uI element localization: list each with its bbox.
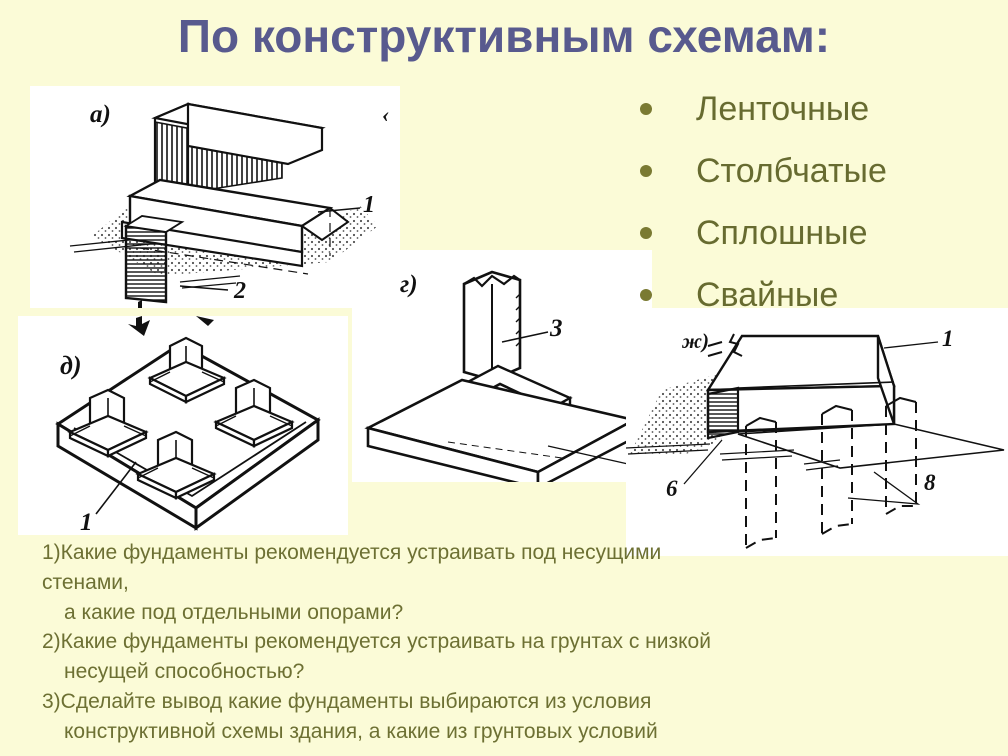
question-line: конструктивной схемы здания, а какие из …	[42, 717, 992, 747]
callout-1: 1	[80, 509, 93, 535]
edge-mark: ‹	[382, 102, 389, 127]
bullet-label: Сплошные	[696, 214, 868, 253]
question-line: 1)Какие фундаменты рекомендуется устраив…	[42, 538, 992, 568]
question-line: несущей способностью?	[42, 657, 992, 687]
top-arrows	[128, 316, 214, 336]
bullet-dot-icon	[640, 227, 652, 239]
questions-block: 1)Какие фундаменты рекомендуется устраив…	[42, 538, 992, 747]
figure-pile-foundation: ж) 1 6 8	[626, 308, 1008, 556]
slide-canvas: По конструктивным схемам:	[0, 0, 1008, 756]
callout-8: 8	[924, 470, 936, 495]
bullet-label: Свайные	[696, 276, 838, 315]
callout-6: 6	[666, 476, 678, 501]
bullet-dot-icon	[640, 165, 652, 177]
page-title: По конструктивным схемам:	[0, 12, 1008, 60]
list-item: Сплошные	[630, 202, 1008, 264]
figure-strip-foundation: а) 1 2 ‹	[30, 86, 400, 308]
list-item: Столбчатые	[630, 140, 1008, 202]
figure-label-d: д)	[60, 351, 82, 380]
callout-1: 1	[363, 192, 375, 218]
question-line: стенами,	[42, 568, 992, 598]
question-line: а какие под отдельными опорами?	[42, 598, 992, 628]
figure-label-zh: ж)	[681, 329, 709, 353]
callout-1: 1	[942, 326, 954, 351]
callout-3: 3	[549, 315, 563, 342]
bullet-dot-icon	[640, 103, 652, 115]
bullet-label: Столбчатые	[696, 152, 887, 191]
figure-label-a: а)	[90, 101, 111, 128]
figure-label-g: г)	[400, 271, 418, 298]
bullet-dot-icon	[640, 289, 652, 301]
bullet-label: Ленточные	[696, 90, 869, 129]
callout-2: 2	[233, 278, 246, 304]
list-item: Свайные	[630, 264, 1008, 326]
bullet-list: Ленточные Столбчатые Сплошные Свайные	[630, 78, 1008, 326]
figure-column-foundation: г) 3	[352, 250, 652, 482]
question-line: 2)Какие фундаменты рекомендуется устраив…	[42, 627, 992, 657]
question-line: 3)Сделайте вывод какие фундаменты выбира…	[42, 687, 992, 717]
list-item: Ленточные	[630, 78, 1008, 140]
figure-slab-foundation: д) 1	[18, 316, 348, 535]
